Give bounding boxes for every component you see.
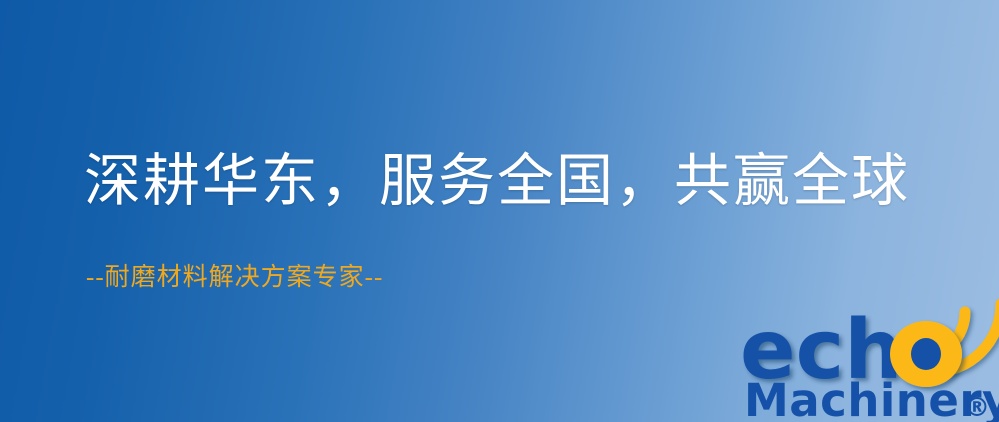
echo-machinery-logo: ech Machinery ® <box>736 296 999 422</box>
banner-subtitle: --耐磨材料解决方案专家-- <box>86 264 383 292</box>
registered-trademark-icon: ® <box>964 393 990 422</box>
logo-o-counter <box>911 338 941 370</box>
promo-banner: 深耕华东，服务全国，共赢全球 --耐磨材料解决方案专家-- ech <box>0 0 999 422</box>
logo-text-machinery: Machinery <box>744 374 999 422</box>
banner-headline: 深耕华东，服务全国，共赢全球 <box>84 152 910 212</box>
